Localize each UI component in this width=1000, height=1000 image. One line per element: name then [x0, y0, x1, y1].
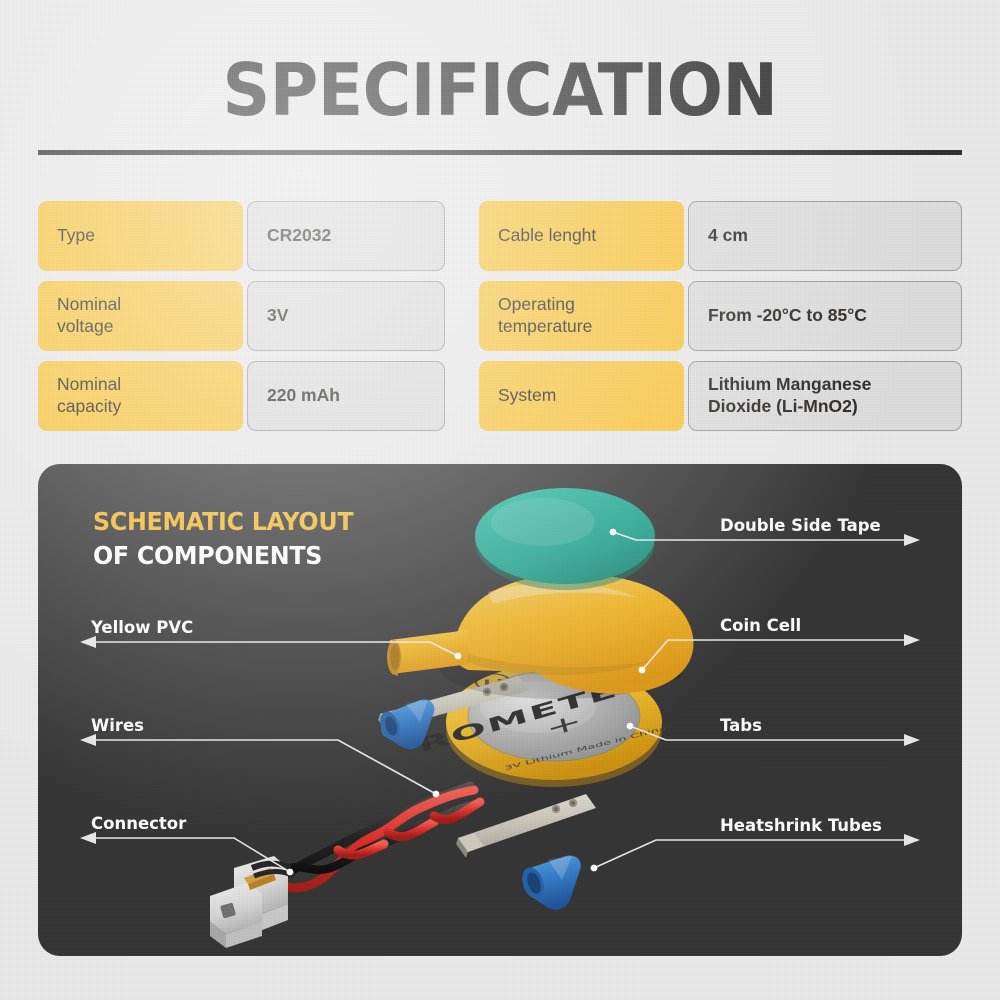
column-spacer [445, 276, 479, 355]
spec-value-nominal-capacity: 220 mAh [247, 361, 445, 431]
spec-value-cable-length: 4 cm [688, 201, 962, 271]
spec-key-system: System [479, 361, 684, 431]
spec-value-system: Lithium Manganese Dioxide (Li-MnO2) [688, 361, 962, 431]
column-spacer [445, 196, 479, 275]
spec-key-nominal-voltage: Nominal voltage [38, 281, 243, 351]
column-spacer [445, 356, 479, 435]
spec-value-nominal-voltage: 3V [247, 281, 445, 351]
spec-key-nominal-capacity: Nominal capacity [38, 361, 243, 431]
callout-label-yellow-pvc: Yellow PVC [91, 618, 193, 637]
schematic-heading: SCHEMATIC LAYOUT OF COMPONENTS [93, 507, 353, 570]
callout-label-heatshrink-tubes: Heatshrink Tubes [720, 816, 882, 835]
spec-value-operating-temperature: From -20°C to 85°C [688, 281, 962, 351]
spec-key-operating-temperature: Operating temperature [479, 281, 684, 351]
callout-label-tabs: Tabs [720, 716, 762, 735]
callout-label-double-side-tape: Double Side Tape [720, 516, 881, 535]
schematic-heading-line1: SCHEMATIC LAYOUT [93, 507, 353, 536]
page-title: SPECIFICATION [40, 48, 960, 132]
spec-value-type: CR2032 [247, 201, 445, 271]
header-divider [38, 150, 962, 155]
callout-label-coin-cell: Coin Cell [720, 616, 801, 635]
spec-key-cable-length: Cable lenght [479, 201, 684, 271]
callout-label-wires: Wires [91, 716, 144, 735]
schematic-heading-line2: OF COMPONENTS [93, 541, 353, 570]
spec-key-type: Type [38, 201, 243, 271]
specification-table: Type CR2032 Cable lenght 4 cm Nominal vo… [38, 196, 962, 435]
callout-label-connector: Connector [91, 814, 186, 833]
schematic-panel: ROMETECH + 3V Lithium Made in China Li [38, 464, 962, 956]
